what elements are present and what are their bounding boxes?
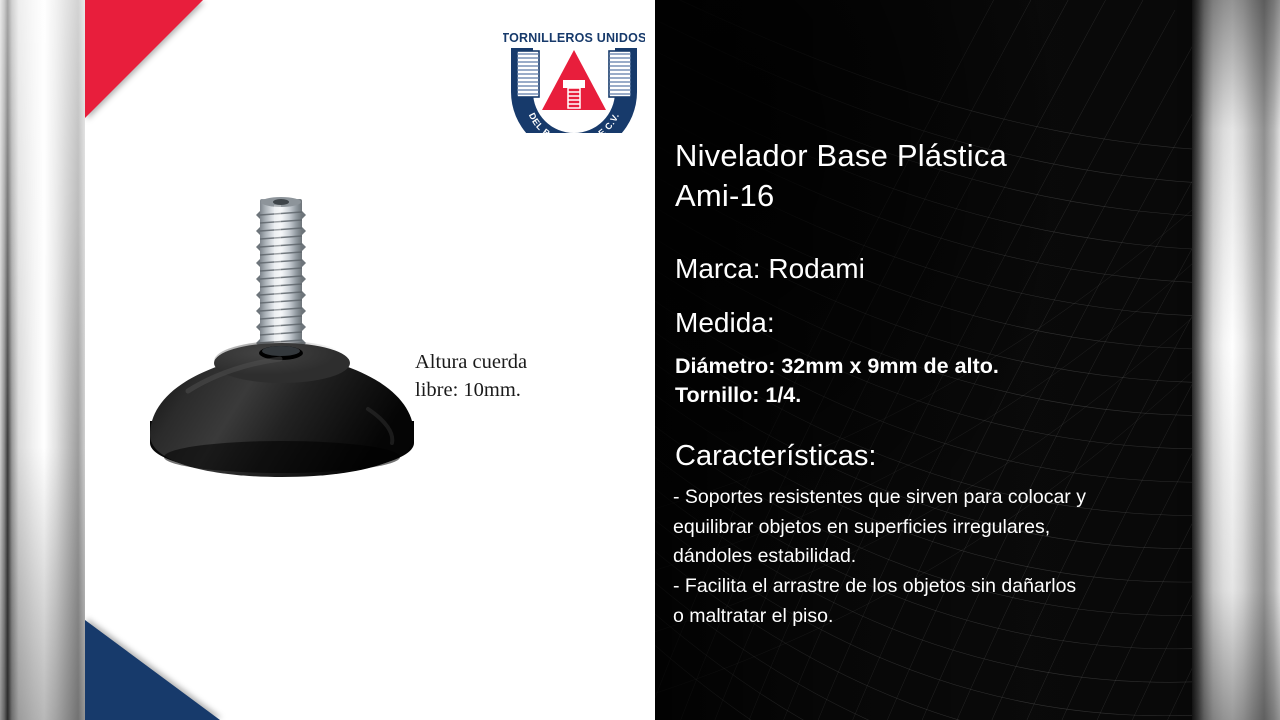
measure-list: Diámetro: 32mm x 9mm de alto. Tornillo: … — [675, 352, 1220, 409]
product-photo — [130, 185, 445, 490]
left-metal-border — [0, 0, 85, 720]
plastic-base — [150, 341, 414, 477]
right-metal-border — [1192, 0, 1280, 720]
features-list: - Soportes resistentes que sirven para c… — [673, 483, 1203, 631]
features-line-3: dándoles estabilidad. — [673, 542, 1203, 572]
features-heading: Características: — [675, 440, 876, 473]
brand-label: Marca: Rodami — [675, 253, 865, 285]
measure-heading: Medida: — [675, 307, 775, 339]
logo-top-text: TORNILLEROS UNIDOS — [503, 31, 645, 45]
height-annotation: Altura cuerda libre: 10mm. — [415, 348, 630, 405]
logo-thread-right — [609, 51, 631, 97]
blue-corner-accent — [85, 620, 220, 720]
product-title-line-1: Nivelador Base Plástica — [675, 136, 1215, 176]
product-title: Nivelador Base Plástica Ami-16 — [675, 136, 1215, 215]
annotation-line-2: libre: 10mm. — [415, 376, 630, 404]
annotation-line-1: Altura cuerda — [415, 348, 630, 376]
company-logo: TORNILLEROS UNIDOS — [503, 18, 645, 133]
specification-panel: Nivelador Base Plástica Ami-16 Marca: Ro… — [655, 0, 1280, 720]
product-datasheet-slide: TORNILLEROS UNIDOS — [0, 0, 1280, 720]
bolt-shank — [256, 197, 306, 351]
measure-line-diameter: Diámetro: 32mm x 9mm de alto. — [675, 352, 1220, 381]
features-line-2: equilibrar objetos en superficies irregu… — [673, 513, 1203, 543]
features-line-4: - Facilita el arrastre de los objetos si… — [673, 572, 1203, 602]
product-image-panel: TORNILLEROS UNIDOS — [85, 0, 655, 720]
product-title-line-2: Ami-16 — [675, 176, 1215, 216]
features-line-1: - Soportes resistentes que sirven para c… — [673, 483, 1203, 513]
red-corner-accent — [85, 0, 203, 118]
features-line-5: o maltratar el piso. — [673, 602, 1203, 632]
logo-thread-left — [517, 51, 539, 97]
measure-line-screw: Tornillo: 1/4. — [675, 381, 1220, 410]
logo-bottom-text: DEL BAJIO S.A. DE C.V. — [527, 111, 621, 133]
